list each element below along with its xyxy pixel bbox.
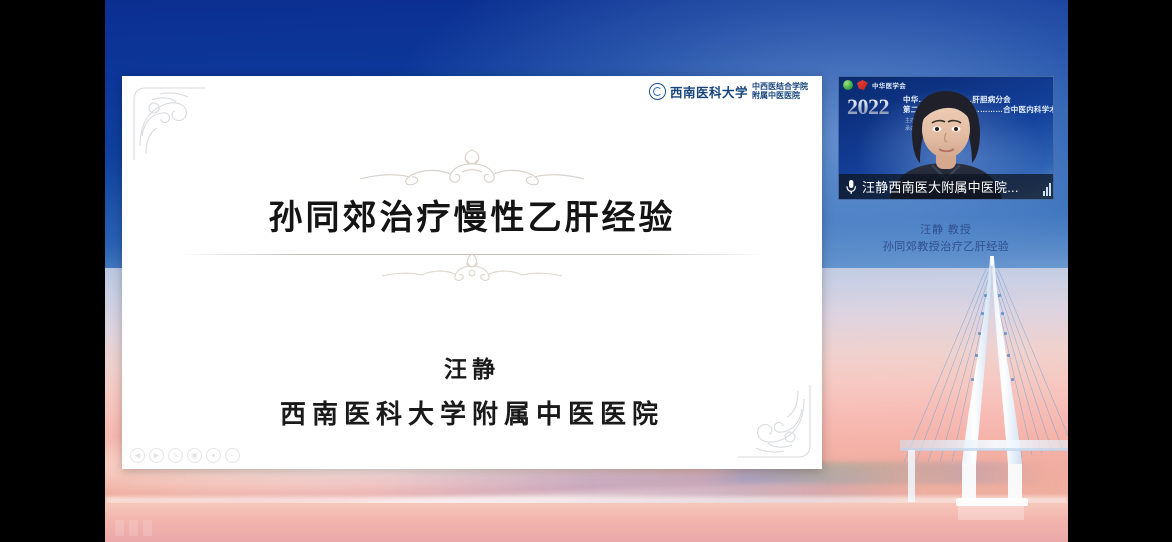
pen-icon[interactable]: ✎: [168, 448, 183, 463]
speaker-name-label: 汪静西南医大附属中医院...: [862, 177, 1019, 196]
pointer-icon[interactable]: ▣: [187, 448, 202, 463]
letterbox-left: [0, 0, 105, 542]
letterbox-right: [1068, 0, 1172, 542]
ornament-divider-bottom-icon: [372, 248, 572, 282]
speaker-name-strip: 汪静西南医大附属中医院...: [839, 174, 1053, 199]
university-logo-mark-icon: [649, 83, 666, 100]
shared-presentation-slide[interactable]: 西南医科大学 中西医结合学院 附属中医医院: [122, 76, 822, 469]
presenter-name: 汪静: [122, 350, 822, 384]
university-logo-name: 西南医科大学: [670, 82, 748, 101]
active-speaker-video-tile[interactable]: 中华医学会 2022 中华…………………肝胆病分会 第二……………………………合…: [838, 76, 1054, 200]
ornament-corner-icon: [130, 84, 210, 164]
chrome-block: [115, 520, 124, 536]
chrome-block: [143, 520, 152, 536]
meeting-stage: 西南医科大学 中西医结合学院 附属中医医院: [105, 0, 1068, 542]
session-caption-line-2: 孙同郊教授治疗乙肝经验: [838, 239, 1054, 256]
chrome-block: [129, 520, 138, 536]
association-emblem-icon: [857, 80, 868, 90]
presenter-organization: 西南医科大学附属中医医院: [122, 394, 822, 431]
slideshow-toolbar[interactable]: ◀ ▶ ✎ ▣ ● −: [130, 448, 240, 463]
conference-year: 2022: [847, 94, 889, 120]
session-caption: 汪静 教授 孙同郊教授治疗乙肝经验: [838, 222, 1054, 255]
bottom-left-chrome: [115, 520, 152, 536]
screen-root: 西南医科大学 中西医结合学院 附属中医医院: [0, 0, 1172, 542]
green-emblem-icon: [843, 80, 853, 90]
previous-slide-icon[interactable]: ◀: [130, 448, 145, 463]
minus-icon[interactable]: −: [225, 448, 240, 463]
signal-bars-icon: [1043, 183, 1051, 196]
university-logo-subtitle: 中西医结合学院 附属中医医院: [752, 83, 808, 100]
slide-title: 孙同郊治疗慢性乙肝经验: [122, 190, 822, 239]
microphone-icon: [845, 179, 857, 195]
next-slide-icon[interactable]: ▶: [149, 448, 164, 463]
session-caption-line-1: 汪静 教授: [838, 222, 1054, 239]
university-logo-sub-line-2: 附属中医医院: [752, 92, 808, 100]
university-logo: 西南医科大学 中西医结合学院 附属中医医院: [649, 82, 808, 101]
ornament-divider-top-icon: [352, 142, 592, 186]
menu-icon[interactable]: ●: [206, 448, 221, 463]
water-foreground: [105, 503, 1068, 542]
